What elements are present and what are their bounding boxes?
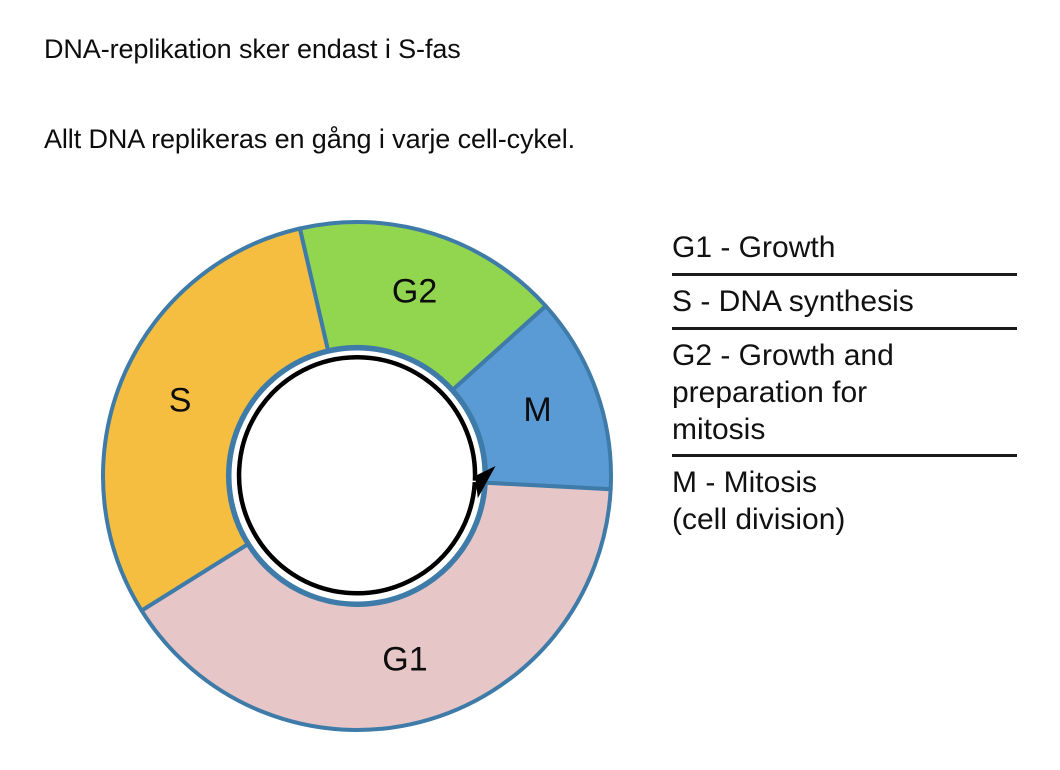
legend-label-g2: G2 - Growth and preparation for mitosis (672, 338, 1017, 449)
donut-label-g1: G1 (382, 640, 427, 678)
heading-line-1: DNA-replikation sker endast i S-fas (44, 34, 461, 65)
legend-label-m: M - Mitosis (cell division) (672, 465, 1017, 539)
legend-row-g1: G1 - Growth (672, 228, 1017, 273)
legend-row-s: S - DNA synthesis (672, 273, 1017, 327)
donut-label-m: M (523, 391, 551, 429)
legend-label-s: S - DNA synthesis (672, 284, 1017, 321)
legend-row-g2: G2 - Growth and preparation for mitosis (672, 327, 1017, 455)
donut-chart: G2MG1S (86, 204, 646, 760)
donut-label-s: S (169, 382, 192, 420)
cell-cycle-diagram: G2MG1S (86, 204, 646, 760)
donut-label-g2: G2 (392, 272, 437, 310)
heading-line-2: Allt DNA replikeras en gång i varje cell… (44, 124, 575, 155)
inner-disc (230, 349, 484, 603)
legend: G1 - Growth S - DNA synthesis G2 - Growt… (672, 228, 1017, 545)
legend-row-m: M - Mitosis (cell division) (672, 454, 1017, 545)
legend-label-g1: G1 - Growth (672, 230, 1017, 267)
